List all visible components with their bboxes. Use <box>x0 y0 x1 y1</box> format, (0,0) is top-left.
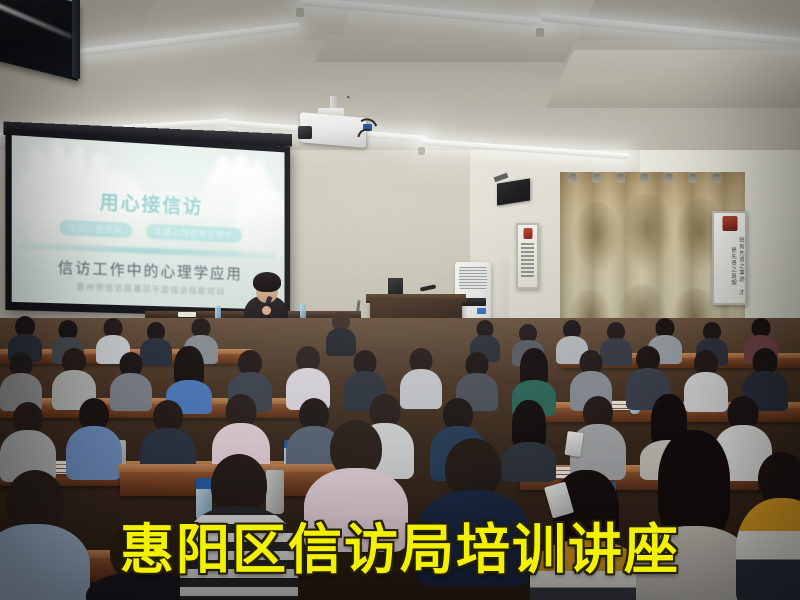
person-torso <box>530 540 642 600</box>
audience-member <box>66 398 122 474</box>
person-hair <box>658 430 730 538</box>
curtain-grommet <box>712 172 721 183</box>
audience-member <box>636 430 752 600</box>
audience-member <box>286 346 330 406</box>
curtain-grommet <box>592 172 601 183</box>
slide-badge-credential: 安馨心理首席咨询师 <box>146 224 242 243</box>
slide-badge-trainer: 培训：唐革联 <box>59 220 132 238</box>
plaque-portrait <box>523 228 532 239</box>
audience-member <box>0 470 90 600</box>
plaque-text-line <box>521 243 534 245</box>
plaque-text-line <box>521 275 534 277</box>
plaque-text-line <box>521 255 534 257</box>
water-bottle <box>300 304 306 319</box>
plaque-text-line <box>521 247 534 249</box>
ac-vent-grille <box>459 267 487 289</box>
light-bracket <box>536 28 544 37</box>
audience-member <box>166 346 212 408</box>
light-bracket <box>418 147 425 155</box>
photo-canvas: 用心接信访 培训：唐革联 安馨心理首席咨询师 信访工作中的心理学应用 惠州市信访… <box>0 0 800 600</box>
audience-member <box>512 348 556 408</box>
ac-brand-badge <box>477 308 486 314</box>
plaque-portrait <box>722 216 737 231</box>
curtain-grommet <box>640 172 649 183</box>
person-torso <box>304 468 408 552</box>
plaque-text-line <box>521 271 534 273</box>
curtain-pattern <box>622 194 672 270</box>
plaque-inscription: 既有先贤之事迹 才是先贤之真理 <box>714 235 745 297</box>
presenter-hair <box>253 272 281 292</box>
curtain-grommet <box>688 172 697 183</box>
monitor-edge <box>72 0 80 79</box>
paper-sheet <box>178 312 196 317</box>
audience-member <box>0 352 42 408</box>
monitor-reflection <box>0 1 72 39</box>
person-torso <box>636 526 752 600</box>
presenter-hand <box>262 306 271 315</box>
curtain-grommet <box>664 172 673 183</box>
plaque-text-line <box>521 267 534 269</box>
ceiling-beam <box>546 50 800 108</box>
projector-lens-icon <box>298 126 312 139</box>
plaque-text-block <box>521 243 534 277</box>
slide-surface: 用心接信访 培训：唐革联 安馨心理首席咨询师 信访工作中的心理学应用 惠州市信访… <box>12 135 285 310</box>
wall-plaque-right: 既有先贤之事迹 才是先贤之真理 <box>712 211 747 305</box>
plaque-text-line <box>521 259 534 261</box>
person-torso <box>416 490 530 586</box>
audience-member <box>0 402 56 476</box>
person-torso <box>736 498 800 600</box>
audience-member <box>304 420 408 540</box>
person-torso <box>0 524 90 600</box>
plaque-text-line <box>521 251 534 253</box>
audience-member <box>736 452 800 600</box>
audience-member <box>416 438 530 578</box>
plaque-text-line <box>521 263 534 265</box>
curtain-grommet <box>568 172 577 183</box>
smartphone <box>564 431 583 457</box>
curtain-pattern <box>574 202 620 272</box>
wall-plaque-left <box>516 223 539 289</box>
audience-member <box>180 454 298 600</box>
curtain-grommet <box>616 172 625 183</box>
audience-member <box>326 312 356 354</box>
projection-screen: 用心接信访 培训：唐革联 安馨心理首席咨询师 信访工作中的心理学应用 惠州市信访… <box>5 129 290 318</box>
light-bracket <box>296 8 304 17</box>
person-torso <box>180 506 298 600</box>
